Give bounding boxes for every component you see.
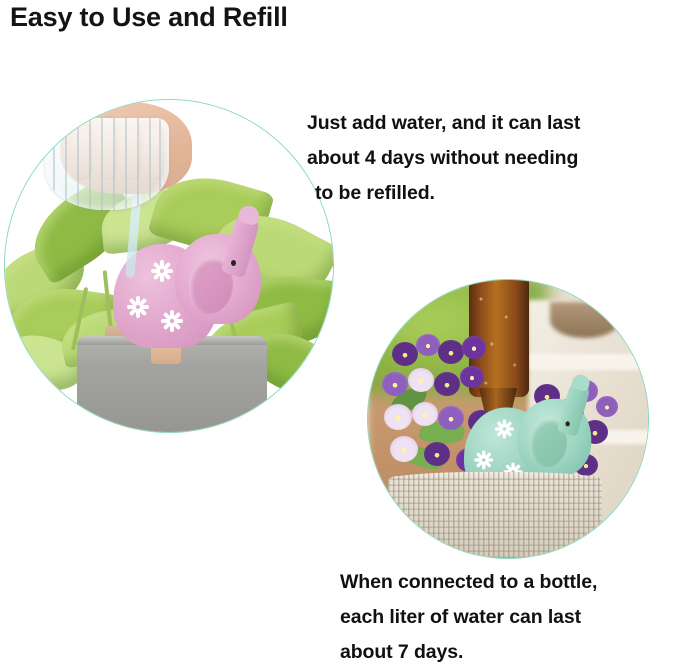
pansy-flower: [382, 372, 408, 396]
callout-line: When connected to a bottle,: [340, 565, 679, 600]
pansy-flower: [424, 442, 450, 466]
pansy-flower: [384, 404, 412, 430]
callout-line: to be refilled.: [307, 176, 679, 211]
pansy-flower: [462, 336, 486, 359]
elephant-eye: [565, 421, 569, 426]
refill-scene: [5, 100, 333, 432]
elephant-eye: [231, 260, 236, 266]
daisy-hole: [474, 450, 493, 469]
pansy-flower: [390, 436, 418, 462]
infographic-page: Easy to Use and Refill: [0, 0, 679, 669]
callout-line: each liter of water can last: [340, 600, 679, 635]
daisy-hole: [161, 310, 183, 332]
woven-basket-planter: [388, 476, 602, 558]
background-bowl: [550, 302, 620, 338]
daisy-hole: [151, 260, 173, 282]
pansy-flower: [392, 342, 418, 366]
pansy-flower: [412, 402, 438, 426]
pansy-flower: [460, 366, 484, 388]
pansy-flower: [408, 368, 434, 392]
water-glass: [45, 118, 169, 210]
bottle-scene: [368, 280, 648, 558]
bottle-callout-text: When connected to a bottle, each liter o…: [340, 565, 679, 670]
page-title: Easy to Use and Refill: [10, 2, 288, 33]
pansy-flower: [596, 396, 618, 417]
pansy-flower: [416, 334, 440, 356]
pansy-flower: [438, 406, 464, 430]
pansy-flower: [438, 340, 464, 364]
photo-refill: [4, 99, 334, 433]
fence-rail: [530, 354, 648, 370]
photo-bottle: [367, 279, 649, 559]
callout-line: about 4 days without needing: [307, 141, 679, 176]
daisy-hole: [127, 296, 149, 318]
pansy-flower: [434, 372, 460, 396]
callout-line: Just add water, and it can last: [307, 106, 679, 141]
refill-callout-text: Just add water, and it can last about 4 …: [307, 106, 679, 211]
callout-line: about 7 days.: [340, 635, 679, 670]
daisy-hole: [495, 420, 514, 439]
